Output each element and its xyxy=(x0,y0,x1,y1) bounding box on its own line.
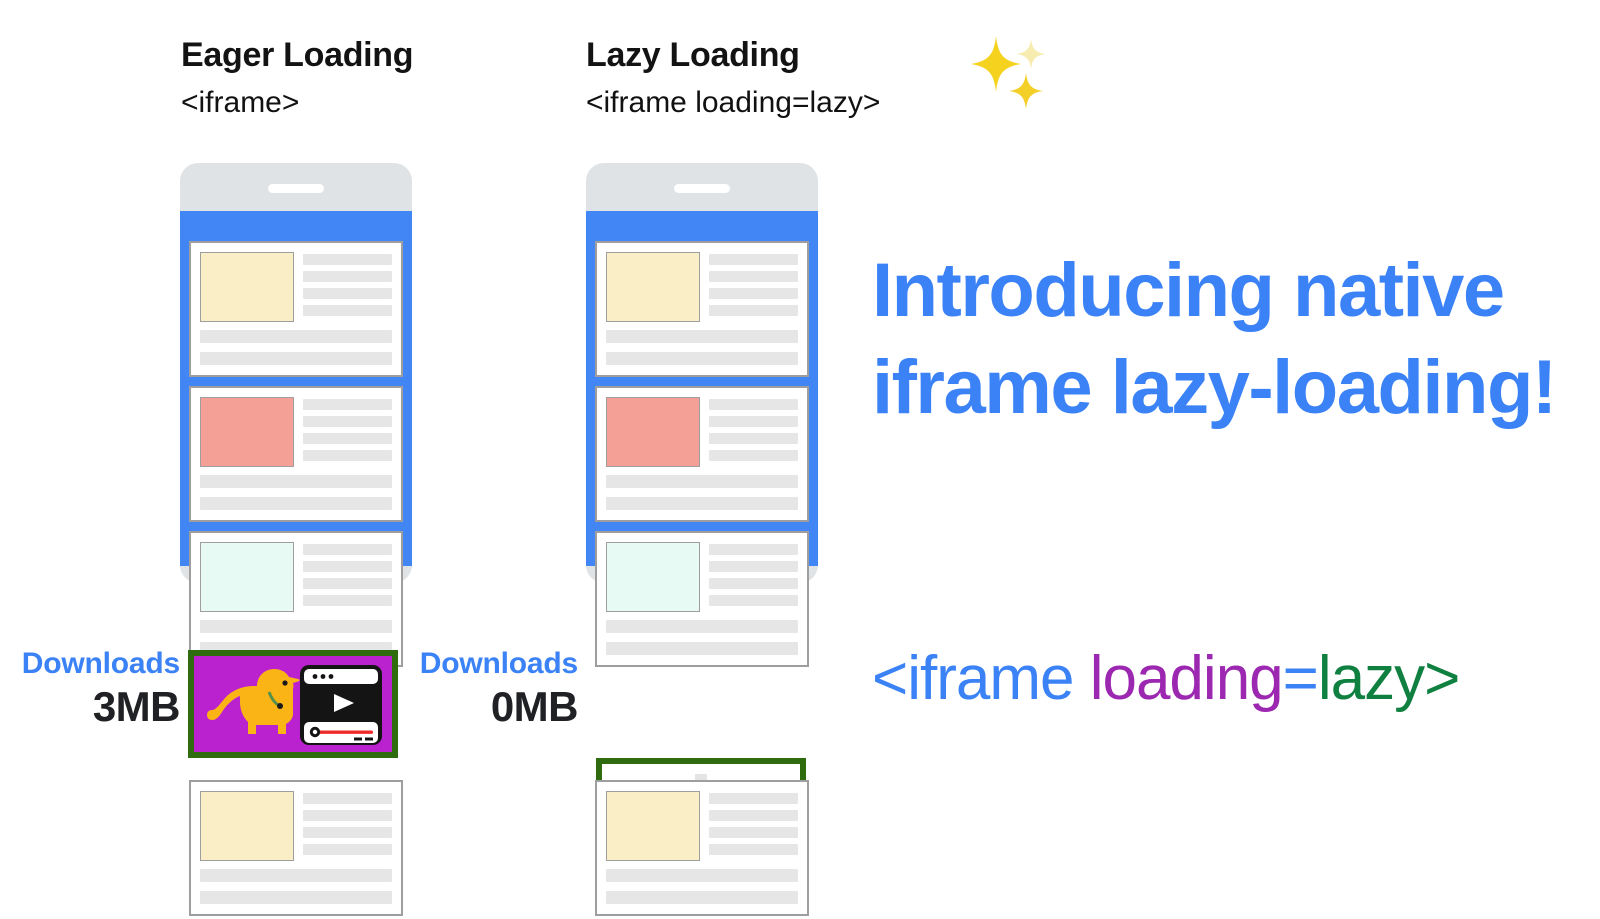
skeleton-line xyxy=(709,450,798,461)
skeleton-line xyxy=(709,561,798,572)
skeleton-line-wide xyxy=(606,330,798,343)
skeleton-line xyxy=(709,810,798,821)
skeleton-line xyxy=(303,288,392,299)
skeleton-line-wide xyxy=(200,330,392,343)
skeleton-line xyxy=(709,254,798,265)
skeleton-line xyxy=(709,793,798,804)
skeleton-line xyxy=(303,810,392,821)
downloads-label: Downloads xyxy=(10,648,180,680)
card-thumbnail xyxy=(606,542,700,612)
column-header-eager: Eager Loading <iframe> xyxy=(181,37,413,119)
skeleton-line xyxy=(709,827,798,838)
card-top xyxy=(606,397,798,467)
skeleton-line xyxy=(709,416,798,427)
card-bottom xyxy=(606,475,798,510)
downloads-label: Downloads xyxy=(408,648,578,680)
feed-card[interactable] xyxy=(189,780,403,916)
skeleton-line-wide xyxy=(606,642,798,655)
column-title-lazy: Lazy Loading xyxy=(586,37,880,74)
card-top xyxy=(200,542,392,612)
skeleton-line xyxy=(303,254,392,265)
skeleton-line xyxy=(709,595,798,606)
skeleton-line xyxy=(709,844,798,855)
skeleton-line xyxy=(303,844,392,855)
card-text-lines xyxy=(303,542,392,612)
code-snippet: <iframe loading=lazy> xyxy=(872,645,1459,713)
code-equals: = xyxy=(1283,644,1318,713)
skeleton-line xyxy=(303,595,392,606)
page-title: Introducing native iframe lazy-loading! xyxy=(872,243,1572,436)
skeleton-line-wide xyxy=(200,352,392,365)
card-thumbnail xyxy=(606,791,700,861)
skeleton-line xyxy=(303,827,392,838)
skeleton-line-wide xyxy=(606,891,798,904)
phone-speaker xyxy=(674,184,730,193)
card-top xyxy=(200,252,392,322)
skeleton-line-wide xyxy=(606,475,798,488)
skeleton-line xyxy=(303,450,392,461)
skeleton-line xyxy=(303,271,392,282)
skeleton-line xyxy=(709,288,798,299)
card-bottom xyxy=(200,330,392,365)
column-subtitle-lazy: <iframe loading=lazy> xyxy=(586,86,880,119)
card-thumbnail xyxy=(606,397,700,467)
card-bottom xyxy=(606,869,798,904)
skeleton-line-wide xyxy=(200,475,392,488)
feed-card-list-eager xyxy=(189,241,403,676)
feed-card[interactable] xyxy=(595,386,809,522)
column-header-lazy: Lazy Loading <iframe loading=lazy> xyxy=(586,37,880,119)
feed-card[interactable] xyxy=(189,531,403,667)
feed-card-list-lazy xyxy=(595,241,809,676)
skeleton-line xyxy=(303,433,392,444)
card-text-lines xyxy=(303,252,392,322)
skeleton-line-wide xyxy=(200,869,392,882)
sparkles-icon xyxy=(962,26,1062,126)
skeleton-line-wide xyxy=(606,620,798,633)
downloads-block-eager: Downloads 3MB xyxy=(10,648,180,730)
feed-card[interactable] xyxy=(595,531,809,667)
card-thumbnail xyxy=(200,397,294,467)
feed-card[interactable] xyxy=(189,386,403,522)
card-text-lines xyxy=(709,252,798,322)
card-thumbnail xyxy=(606,252,700,322)
skeleton-line-wide xyxy=(606,497,798,510)
card-top xyxy=(606,252,798,322)
card-text-lines xyxy=(303,791,392,861)
code-attribute: loading xyxy=(1073,644,1282,713)
downloads-value: 0MB xyxy=(408,684,578,730)
code-tag-open: <iframe xyxy=(872,644,1073,713)
column-title-eager: Eager Loading xyxy=(181,37,413,74)
skeleton-line-wide xyxy=(606,869,798,882)
skeleton-line-wide xyxy=(200,891,392,904)
card-top xyxy=(200,791,392,861)
card-top xyxy=(606,791,798,861)
card-top xyxy=(200,397,392,467)
skeleton-line-wide xyxy=(200,497,392,510)
video-player-icon xyxy=(298,663,384,747)
skeleton-line-wide xyxy=(606,352,798,365)
card-text-lines xyxy=(709,397,798,467)
skeleton-line xyxy=(709,544,798,555)
skeleton-line-wide xyxy=(200,620,392,633)
card-thumbnail xyxy=(200,542,294,612)
downloads-value: 3MB xyxy=(10,684,180,730)
skeleton-line xyxy=(303,399,392,410)
card-text-lines xyxy=(709,791,798,861)
card-top xyxy=(606,542,798,612)
skeleton-line xyxy=(303,305,392,316)
skeleton-line xyxy=(303,578,392,589)
card-thumbnail xyxy=(200,791,294,861)
infographic-canvas: Eager Loading <iframe> Lazy Loading <ifr… xyxy=(0,0,1600,919)
skeleton-line xyxy=(709,271,798,282)
skeleton-line xyxy=(303,544,392,555)
skeleton-line xyxy=(303,561,392,572)
card-bottom xyxy=(200,475,392,510)
card-bottom xyxy=(200,869,392,904)
skeleton-line xyxy=(709,433,798,444)
card-bottom xyxy=(606,620,798,655)
card-text-lines xyxy=(303,397,392,467)
skeleton-line xyxy=(303,416,392,427)
skeleton-line xyxy=(303,793,392,804)
skeleton-line xyxy=(709,399,798,410)
dog-illustration xyxy=(207,669,300,734)
feed-card[interactable] xyxy=(595,241,809,377)
video-embed-loaded[interactable] xyxy=(188,650,398,758)
phone-speaker xyxy=(268,184,324,193)
card-thumbnail xyxy=(200,252,294,322)
card-bottom xyxy=(606,330,798,365)
feed-card[interactable] xyxy=(595,780,809,916)
card-text-lines xyxy=(709,542,798,612)
code-value: lazy> xyxy=(1318,644,1459,713)
downloads-block-lazy: Downloads 0MB xyxy=(408,648,578,730)
column-subtitle-eager: <iframe> xyxy=(181,86,413,119)
feed-card[interactable] xyxy=(189,241,403,377)
skeleton-line xyxy=(709,578,798,589)
skeleton-line xyxy=(709,305,798,316)
